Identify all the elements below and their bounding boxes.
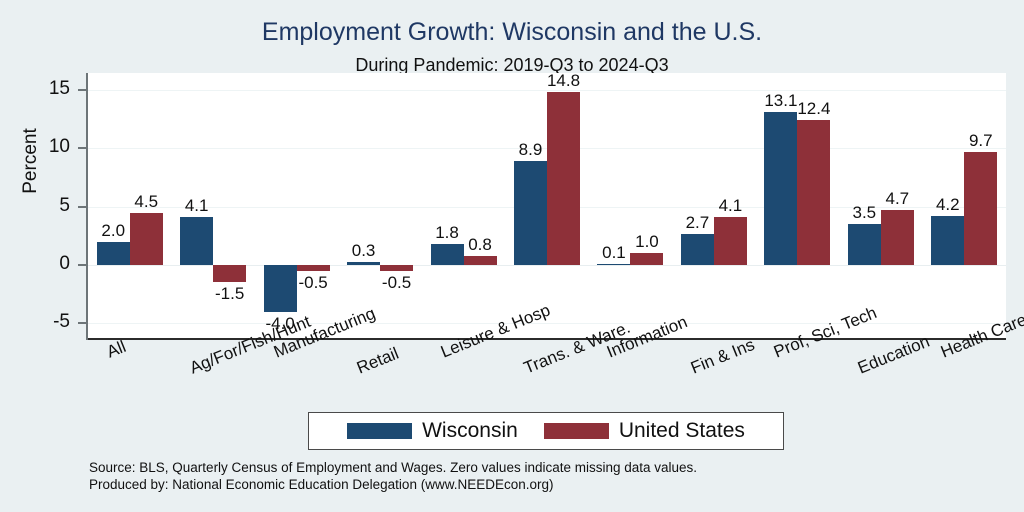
legend-swatch-wisconsin bbox=[347, 423, 412, 439]
y-tick bbox=[78, 89, 86, 91]
bar-united-states bbox=[213, 265, 246, 282]
bar-value-label: 9.7 bbox=[951, 131, 1010, 151]
chart-footer: Source: BLS, Quarterly Census of Employm… bbox=[89, 459, 989, 493]
x-axis-label: All bbox=[104, 337, 129, 363]
chart-title: Employment Growth: Wisconsin and the U.S… bbox=[0, 18, 1024, 47]
y-tick bbox=[78, 264, 86, 266]
bar-value-label: 12.4 bbox=[784, 99, 843, 119]
bar-wisconsin bbox=[597, 264, 630, 266]
footer-produced-by: Produced by: National Economic Education… bbox=[89, 476, 989, 493]
bar-united-states bbox=[964, 152, 997, 265]
bar-united-states bbox=[464, 256, 497, 265]
bar-value-label: -0.5 bbox=[284, 273, 343, 293]
legend-swatch-united-states bbox=[544, 423, 609, 439]
chart-legend: Wisconsin United States bbox=[308, 412, 784, 450]
bar-wisconsin bbox=[681, 234, 714, 265]
bar-united-states bbox=[297, 265, 330, 271]
y-tick bbox=[78, 147, 86, 149]
x-axis-label: Retail bbox=[354, 344, 402, 379]
bar-united-states bbox=[547, 92, 580, 265]
bar-wisconsin bbox=[180, 217, 213, 265]
legend-label-united-states: United States bbox=[619, 419, 745, 443]
bar-value-label: -1.5 bbox=[200, 284, 259, 304]
bar-united-states bbox=[714, 217, 747, 265]
bar-wisconsin bbox=[848, 224, 881, 265]
bar-value-label: 0.8 bbox=[451, 235, 510, 255]
bar-united-states bbox=[380, 265, 413, 271]
bar-united-states bbox=[130, 213, 163, 265]
bar-value-label: -4.0 bbox=[251, 314, 310, 334]
bar-wisconsin bbox=[931, 216, 964, 265]
bar-united-states bbox=[881, 210, 914, 265]
y-tick bbox=[78, 322, 86, 324]
bar-wisconsin bbox=[347, 262, 380, 265]
y-axis-label: Percent bbox=[20, 46, 42, 276]
bar-value-label: 4.1 bbox=[701, 196, 760, 216]
bar-value-label: -0.5 bbox=[367, 273, 426, 293]
legend-item-wisconsin[interactable]: Wisconsin bbox=[347, 419, 518, 443]
y-tick bbox=[78, 206, 86, 208]
bar-wisconsin bbox=[514, 161, 547, 265]
x-axis-labels: AllAg/For/Fish/HuntManufacturingRetailLe… bbox=[0, 340, 1024, 410]
bar-value-label: 4.1 bbox=[167, 196, 226, 216]
x-axis-label: Fin & Ins bbox=[688, 335, 758, 379]
bar-value-label: 1.0 bbox=[617, 232, 676, 252]
bar-united-states bbox=[797, 120, 830, 265]
y-axis-line bbox=[86, 73, 88, 340]
y-tick-label: -5 bbox=[8, 311, 70, 333]
bar-united-states bbox=[630, 253, 663, 265]
legend-item-united-states[interactable]: United States bbox=[544, 419, 745, 443]
footer-source: Source: BLS, Quarterly Census of Employm… bbox=[89, 459, 989, 476]
bar-value-label: 0.3 bbox=[334, 241, 393, 261]
employment-growth-chart: Employment Growth: Wisconsin and the U.S… bbox=[0, 0, 1024, 512]
bar-wisconsin bbox=[764, 112, 797, 265]
bar-value-label: 14.8 bbox=[534, 71, 593, 91]
legend-label-wisconsin: Wisconsin bbox=[422, 419, 518, 443]
bar-wisconsin bbox=[97, 242, 130, 265]
